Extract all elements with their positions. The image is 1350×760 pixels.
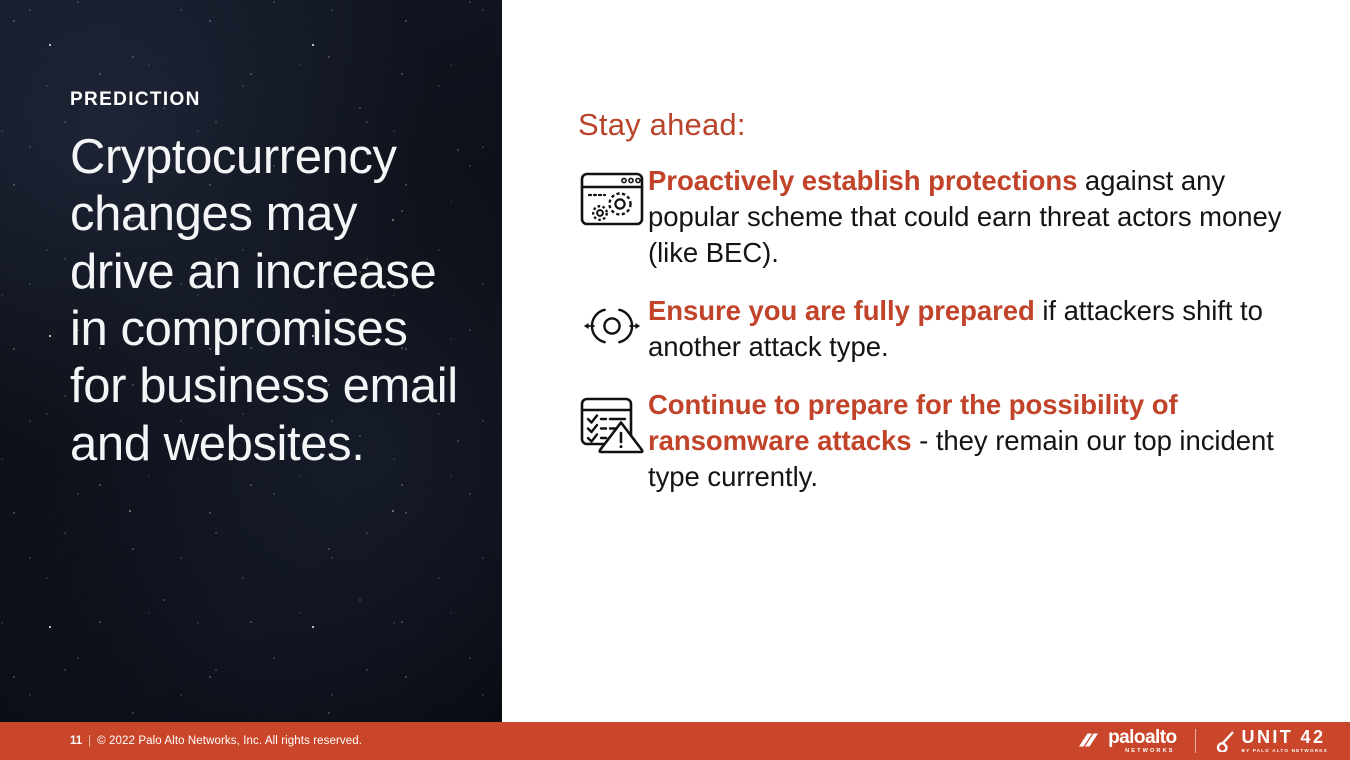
footer-left-group: 11 | © 2022 Palo Alto Networks, Inc. All… xyxy=(70,735,362,747)
palo-alto-wordmark: paloalto NETWORKS xyxy=(1108,728,1176,755)
recommendation-list: Proactively establish protections agains… xyxy=(576,163,1316,517)
logo-divider xyxy=(1195,729,1196,753)
prediction-eyebrow-label: PREDICTION xyxy=(70,90,462,111)
unit-42-logo: UNIT 42 BY PALO ALTO NETWORKS xyxy=(1214,728,1328,754)
brand-subtitle: NETWORKS xyxy=(1125,749,1174,755)
page-number: 11 xyxy=(70,735,82,747)
unit-42-wordmark: UNIT 42 BY PALO ALTO NETWORKS xyxy=(1242,728,1328,754)
copyright-text: © 2022 Palo Alto Networks, Inc. All righ… xyxy=(97,735,362,747)
right-panel: Stay ahead: xyxy=(502,0,1350,722)
expand-target-icon xyxy=(576,293,648,351)
brand-name: paloalto xyxy=(1108,728,1176,747)
footer-bar: 11 | © 2022 Palo Alto Networks, Inc. All… xyxy=(0,722,1350,760)
list-item: Continue to prepare for the possibility … xyxy=(576,387,1316,495)
unit-42-subtitle: BY PALO ALTO NETWORKS xyxy=(1242,749,1328,754)
footer-separator: | xyxy=(88,735,91,747)
list-item-text: Ensure you are fully prepared if attacke… xyxy=(648,293,1316,365)
list-item-heading: Proactively establish protections xyxy=(648,165,1077,196)
page-title: Cryptocurrency changes may drive an incr… xyxy=(70,129,462,473)
list-item-text: Continue to prepare for the possibility … xyxy=(648,387,1316,495)
unit-42-name: UNIT 42 xyxy=(1242,728,1326,746)
slide-canvas: PREDICTION Cryptocurrency changes may dr… xyxy=(0,0,1350,760)
left-panel: PREDICTION Cryptocurrency changes may dr… xyxy=(0,0,502,722)
section-heading-stay-ahead: Stay ahead: xyxy=(578,107,746,143)
checklist-warning-icon xyxy=(576,387,648,455)
list-item-heading: Ensure you are fully prepared xyxy=(648,295,1035,326)
unit-42-swoosh-icon xyxy=(1214,730,1236,752)
list-item-text: Proactively establish protections agains… xyxy=(648,163,1316,271)
palo-alto-networks-logo: paloalto NETWORKS xyxy=(1075,728,1176,755)
browser-gears-icon xyxy=(576,163,648,227)
footer-logos: paloalto NETWORKS UNIT 42 BY PALO ALTO N… xyxy=(1075,728,1328,755)
list-item: Proactively establish protections agains… xyxy=(576,163,1316,271)
palo-alto-slash-mark-icon xyxy=(1075,730,1101,752)
list-item: Ensure you are fully prepared if attacke… xyxy=(576,293,1316,365)
left-content: PREDICTION Cryptocurrency changes may dr… xyxy=(70,90,462,473)
